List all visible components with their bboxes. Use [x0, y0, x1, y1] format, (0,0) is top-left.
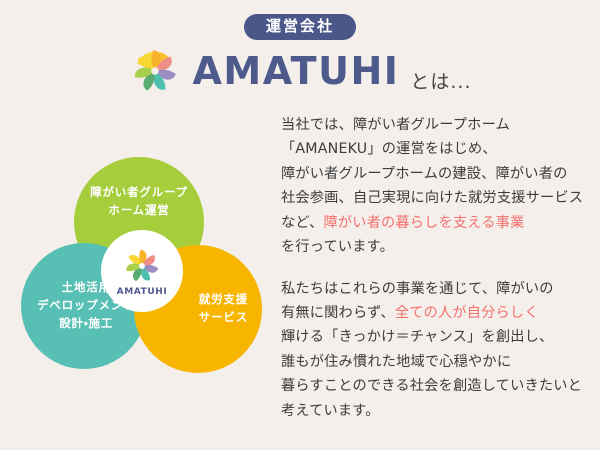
description-text-highlight: 障がい者の暮らしを支える事業 — [323, 215, 524, 231]
venn-label-line: ホーム運営 — [90, 202, 188, 220]
description-text: 暮らすことのできる社会を創造していきたいと — [281, 378, 582, 394]
brand-title-row: AMATUHI とは... — [0, 44, 600, 98]
description-line: 有無に関わらず、全ての人が自分らしく — [281, 301, 593, 325]
description-line: 障がい者グループホームの建設、障がい者の — [281, 162, 593, 186]
company-description: 当社では、障がい者グループホーム「AMANEKU」の運営をはじめ、障がい者グルー… — [281, 113, 593, 423]
venn-label-line: 障がい者グループ — [90, 184, 188, 202]
description-line: 社会参画、自己実現に向けた就労支援サービス — [281, 186, 593, 210]
paragraph-spacer — [281, 260, 593, 277]
description-text: 誰もが住み慣れた地域で心穏やかに — [281, 354, 511, 370]
description-line: 私たちはこれらの事業を通じて、障がいの — [281, 277, 593, 301]
description-line: 当社では、障がい者グループホーム — [281, 113, 593, 137]
operating-company-badge: 運営会社 — [244, 14, 356, 40]
description-paragraph-2: 私たちはこれらの事業を通じて、障がいの有無に関わらず、全ての人が自分らしく輝ける… — [281, 277, 593, 424]
amatuhi-pinwheel-logo-icon — [121, 245, 163, 287]
description-paragraph-1: 当社では、障がい者グループホーム「AMANEKU」の運営をはじめ、障がい者グルー… — [281, 113, 593, 260]
brand-suffix: とは... — [410, 67, 471, 98]
venn-label-line: 設計・施工 — [37, 315, 135, 333]
description-text: 私たちはこれらの事業を通じて、障がいの — [281, 281, 554, 297]
venn-label-line: 就労支援 — [199, 291, 248, 309]
description-text-highlight: 全ての人が自分らしく — [395, 305, 539, 321]
description-line: を行っています。 — [281, 235, 593, 259]
description-text: 社会参画、自己実現に向けた就労支援サービス — [281, 190, 583, 206]
description-text: 当社では、障がい者グループホーム — [281, 117, 510, 133]
description-text: 「AMANEKU」の運営をはじめ、 — [281, 141, 497, 157]
brand-wordmark: AMATUHI — [192, 52, 399, 90]
description-text: を行っています。 — [281, 239, 394, 255]
description-text: 障がい者グループホームの建設、障がい者の — [281, 166, 567, 182]
description-line: 誰もが住み慣れた地域で心穏やかに — [281, 350, 593, 374]
description-text: 考えています。 — [281, 403, 380, 419]
amatuhi-pinwheel-logo-icon — [128, 44, 182, 98]
description-text: 輝ける「きっかけ＝チャンス」を創出し、 — [281, 329, 553, 345]
description-line: 暮らすことのできる社会を創造していきたいと — [281, 374, 593, 398]
description-line: 輝ける「きっかけ＝チャンス」を創出し、 — [281, 325, 593, 349]
venn-center-brand-circle: AMATUHI — [101, 230, 183, 312]
description-line: など、障がい者の暮らしを支える事業 — [281, 211, 593, 235]
description-line: 考えています。 — [281, 399, 593, 423]
business-venn-diagram: 障がい者グループ ホーム運営 土地活用 デベロップメント 設計・施工 就労支援 … — [8, 150, 276, 390]
description-line: 「AMANEKU」の運営をはじめ、 — [281, 137, 593, 161]
venn-center-label: AMATUHI — [117, 288, 168, 297]
description-text: 有無に関わらず、 — [281, 305, 395, 321]
description-text: など、 — [281, 215, 323, 231]
venn-label-line: サービス — [199, 309, 248, 327]
header-badge-container: 運営会社 — [0, 14, 600, 40]
